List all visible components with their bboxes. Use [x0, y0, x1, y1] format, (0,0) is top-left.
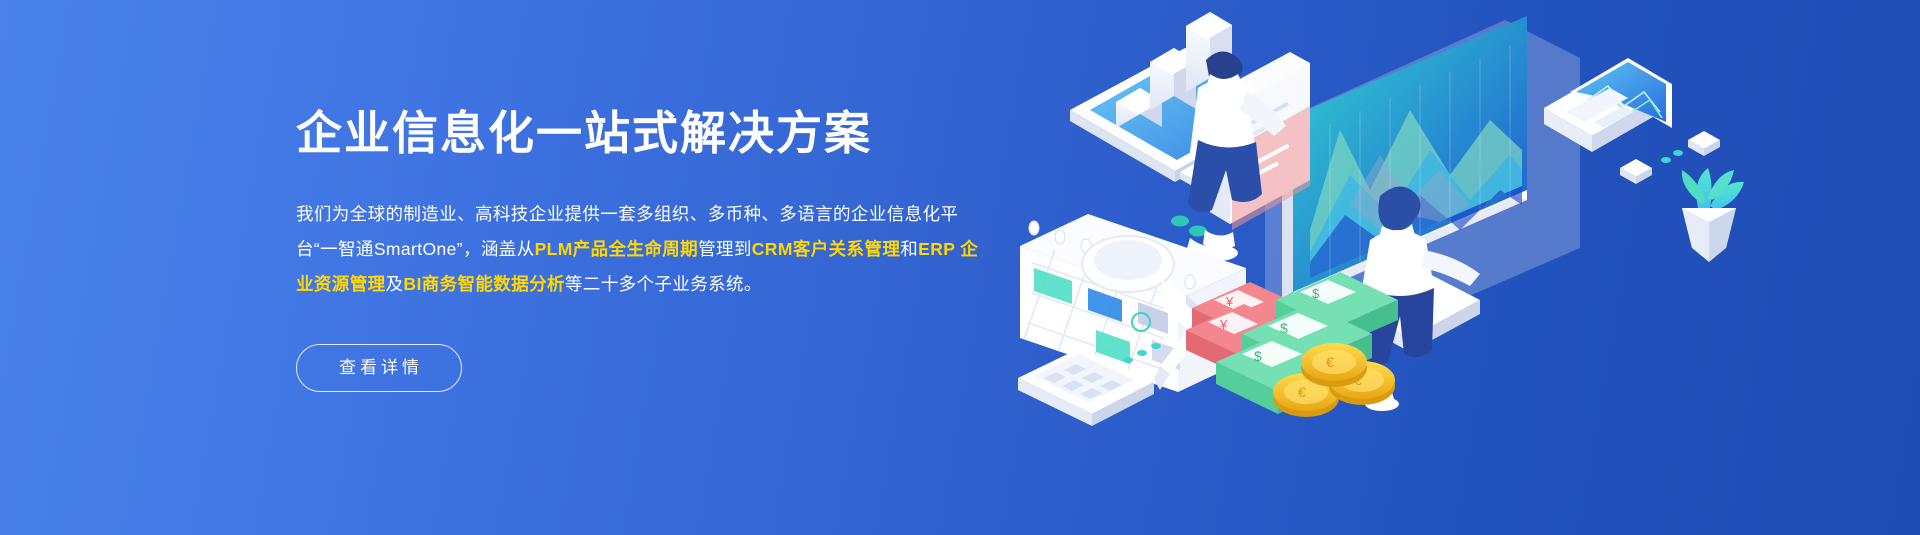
svg-text:¥: ¥	[1225, 294, 1234, 309]
svg-text:$: $	[1312, 286, 1320, 301]
description-part-3: 和	[900, 239, 918, 259]
description-part-2: 管理到	[698, 239, 752, 259]
svg-text:€: €	[1298, 384, 1306, 400]
potted-plant	[1682, 168, 1744, 262]
hero-banner: ¥ ¥ $ $ $	[0, 0, 1920, 535]
description-part-4: 及	[386, 274, 404, 294]
svg-text:¥: ¥	[1219, 317, 1228, 332]
view-details-button[interactable]: 查看详情	[296, 344, 462, 392]
description-part-5: 等二十多个子业务系统。	[565, 274, 762, 294]
highlight-crm: CRM客户关系管理	[752, 239, 900, 259]
hero-illustration: ¥ ¥ $ $ $	[1010, 0, 1920, 535]
highlight-plm: PLM产品全生命周期	[535, 239, 698, 259]
hero-description: 我们为全球的制造业、高科技企业提供一套多组织、多币种、多语言的企业信息化平台“一…	[296, 197, 986, 302]
svg-text:$: $	[1254, 348, 1262, 364]
hero-copy: 企业信息化一站式解决方案 我们为全球的制造业、高科技企业提供一套多组织、多币种、…	[296, 108, 996, 392]
highlight-bi: BI商务智能数据分析	[403, 274, 565, 294]
page-title: 企业信息化一站式解决方案	[296, 108, 996, 159]
svg-text:€: €	[1326, 354, 1334, 370]
